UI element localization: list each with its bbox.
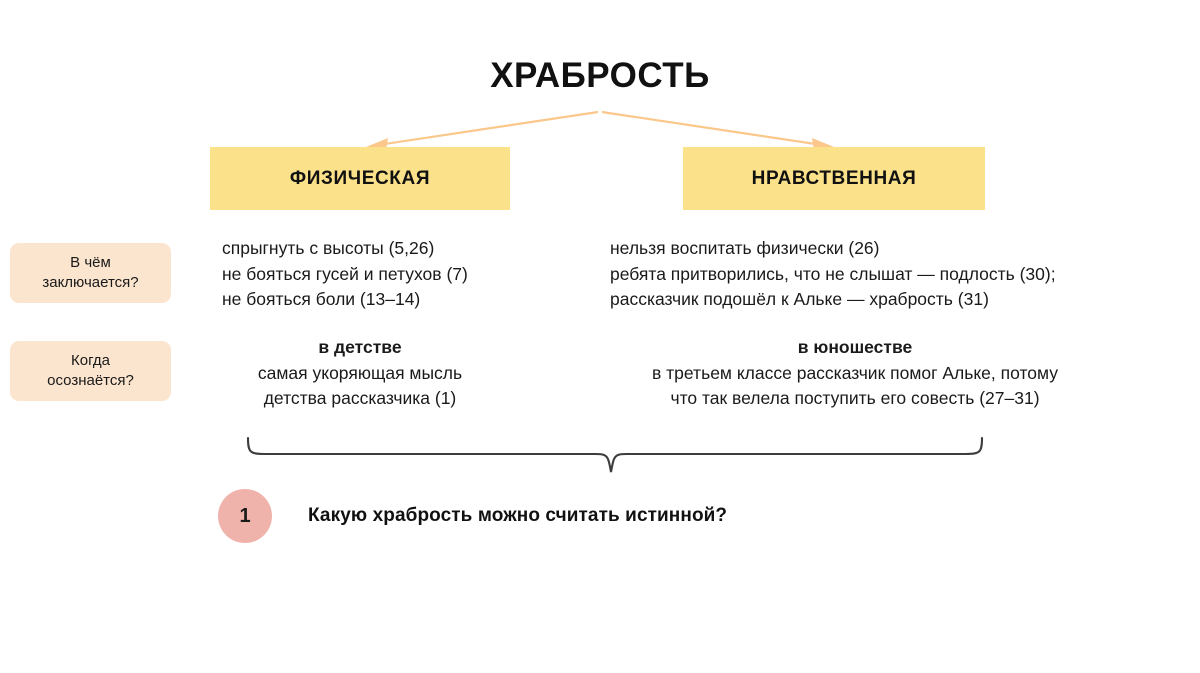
content-moral-essence: нельзя воспитать физически (26) ребята п… — [610, 236, 1130, 313]
curly-brace-icon — [240, 428, 990, 483]
stage-body-youth: в третьем классе рассказчик помог Альке,… — [600, 361, 1110, 412]
category-label-moral: НРАВСТВЕННАЯ — [752, 168, 917, 190]
question-text: Какую храбрость можно считать истинной? — [308, 505, 727, 527]
arrow-down-left-icon — [366, 112, 598, 150]
stage-block-childhood: в детстве самая укоряющая мысль детства … — [215, 335, 505, 412]
stage-block-youth: в юношестве в третьем классе рассказчик … — [600, 335, 1110, 412]
stage-body-childhood: самая укоряющая мысль детства рассказчик… — [215, 361, 505, 412]
page-title: ХРАБРОСТЬ — [0, 56, 1200, 96]
aspect-badge-what: В чём заключается? — [10, 243, 171, 303]
aspect-badge-when-label: Когда осознаётся? — [47, 351, 134, 391]
stage-title-youth: в юношестве — [600, 335, 1110, 361]
stage-title-childhood: в детстве — [215, 335, 505, 361]
slide-canvas: ХРАБРОСТЬ ФИЗИЧЕСКАЯ НРАВСТВЕННАЯ В чём … — [0, 0, 1200, 673]
arrow-down-right-icon — [602, 112, 834, 150]
aspect-badge-what-label: В чём заключается? — [42, 253, 138, 293]
category-box-moral: НРАВСТВЕННАЯ — [683, 147, 985, 210]
question-number-label: 1 — [239, 505, 250, 528]
category-label-physical: ФИЗИЧЕСКАЯ — [290, 168, 430, 190]
category-box-physical: ФИЗИЧЕСКАЯ — [210, 147, 510, 210]
content-physical-essence: спрыгнуть с высоты (5,26) не бояться гус… — [222, 236, 622, 313]
question-number-badge: 1 — [218, 489, 272, 543]
aspect-badge-when: Когда осознаётся? — [10, 341, 171, 401]
question-row: 1 Какую храбрость можно считать истинной… — [218, 489, 727, 543]
